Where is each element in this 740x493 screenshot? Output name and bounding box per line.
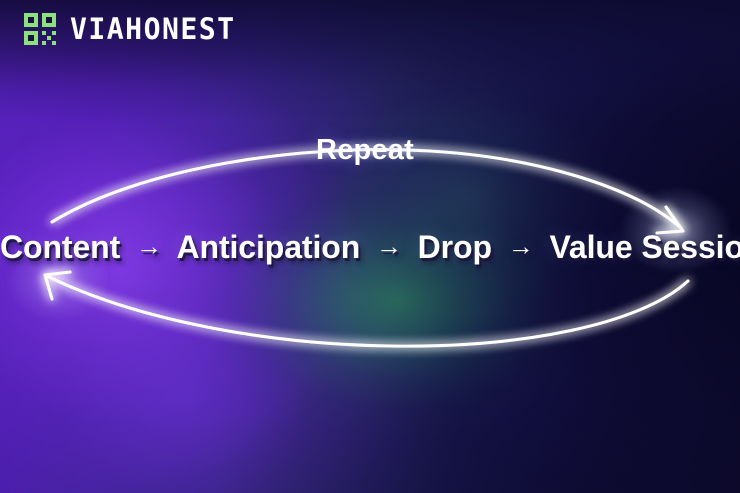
flow-arrow-icon-3: → xyxy=(508,231,534,261)
flow-arrow-icon-2: → xyxy=(376,231,402,261)
flow-chain: Content → Anticipation → Drop → Value Se… xyxy=(0,231,740,265)
flow-step-content: Content xyxy=(0,229,120,265)
flow-step-drop: Drop xyxy=(418,229,492,265)
flow-arrow-icon-1: → xyxy=(136,231,162,261)
flow-step-anticipation: Anticipation xyxy=(176,229,360,265)
repeat-label: Repeat xyxy=(0,136,735,165)
slide-canvas: VIAHONEST xyxy=(0,0,740,493)
bottom-arc-path xyxy=(47,276,688,346)
flow-step-value-session: Value Session xyxy=(549,229,740,265)
